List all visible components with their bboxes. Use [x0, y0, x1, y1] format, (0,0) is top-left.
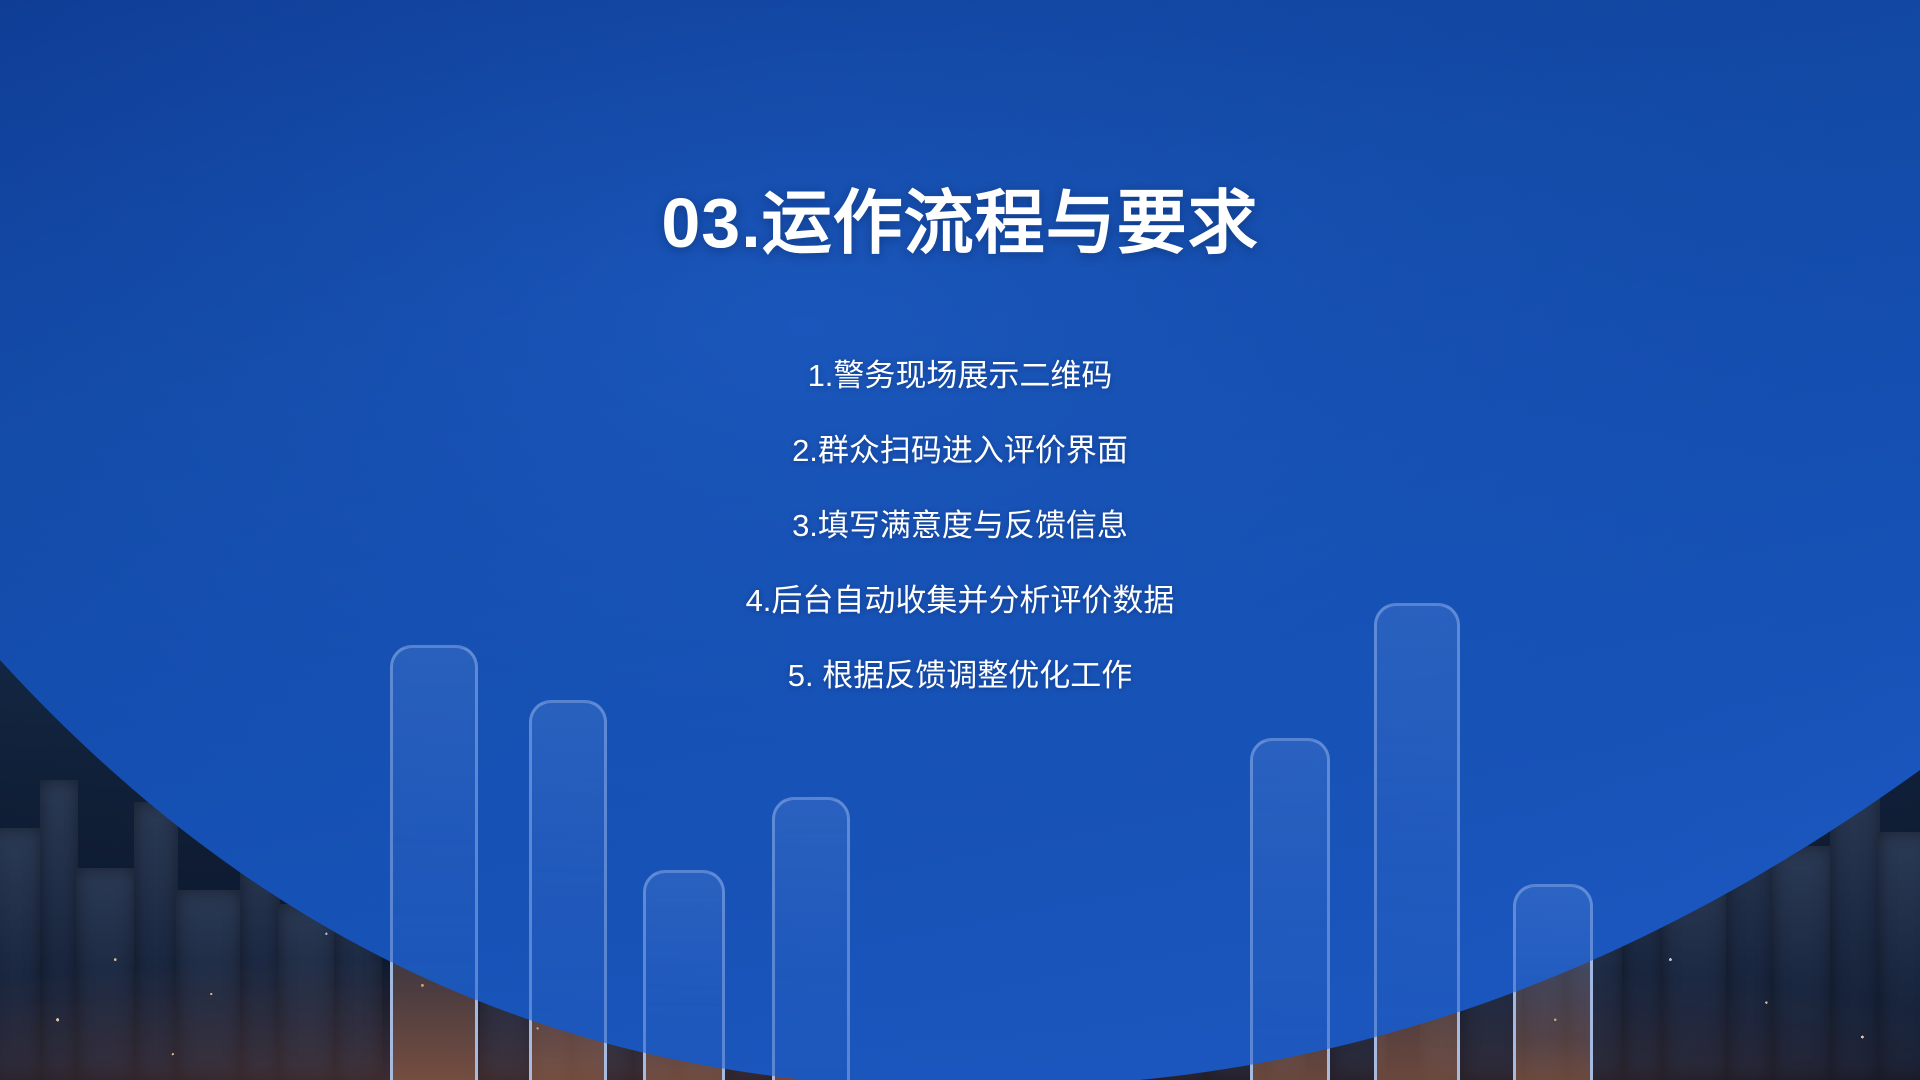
- list-item: 5. 根据反馈调整优化工作: [788, 660, 1132, 691]
- list-item: 4.后台自动收集并分析评价数据: [746, 585, 1175, 616]
- list-item: 3.填写满意度与反馈信息: [792, 510, 1128, 541]
- slide-title: 03.运作流程与要求: [0, 185, 1920, 262]
- steps-list: 1.警务现场展示二维码 2.群众扫码进入评价界面 3.填写满意度与反馈信息 4.…: [0, 360, 1920, 691]
- list-item: 2.群众扫码进入评价界面: [792, 435, 1128, 466]
- slide-content: 03.运作流程与要求 1.警务现场展示二维码 2.群众扫码进入评价界面 3.填写…: [0, 0, 1920, 1080]
- slide-canvas: 03.运作流程与要求 1.警务现场展示二维码 2.群众扫码进入评价界面 3.填写…: [0, 0, 1920, 1080]
- list-item: 1.警务现场展示二维码: [808, 360, 1113, 391]
